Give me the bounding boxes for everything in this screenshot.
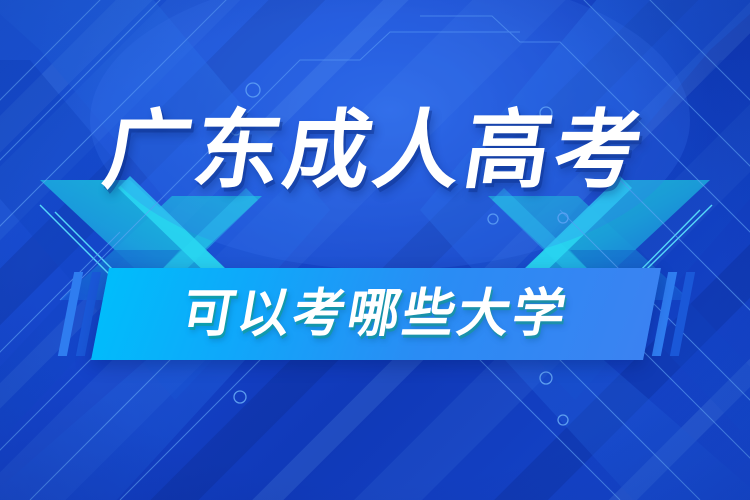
subtitle-text-wrap: 可以考哪些大学	[100, 268, 652, 360]
page-subtitle: 可以考哪些大学	[179, 288, 573, 340]
page-title: 广东成人高考	[98, 108, 652, 194]
subtitle-banner-block: 可以考哪些大学	[0, 268, 750, 360]
vignette-overlay	[0, 0, 750, 500]
poster-canvas: 广东成人高考 可以考哪些大学	[0, 0, 750, 500]
headline-block: 广东成人高考	[0, 108, 750, 194]
